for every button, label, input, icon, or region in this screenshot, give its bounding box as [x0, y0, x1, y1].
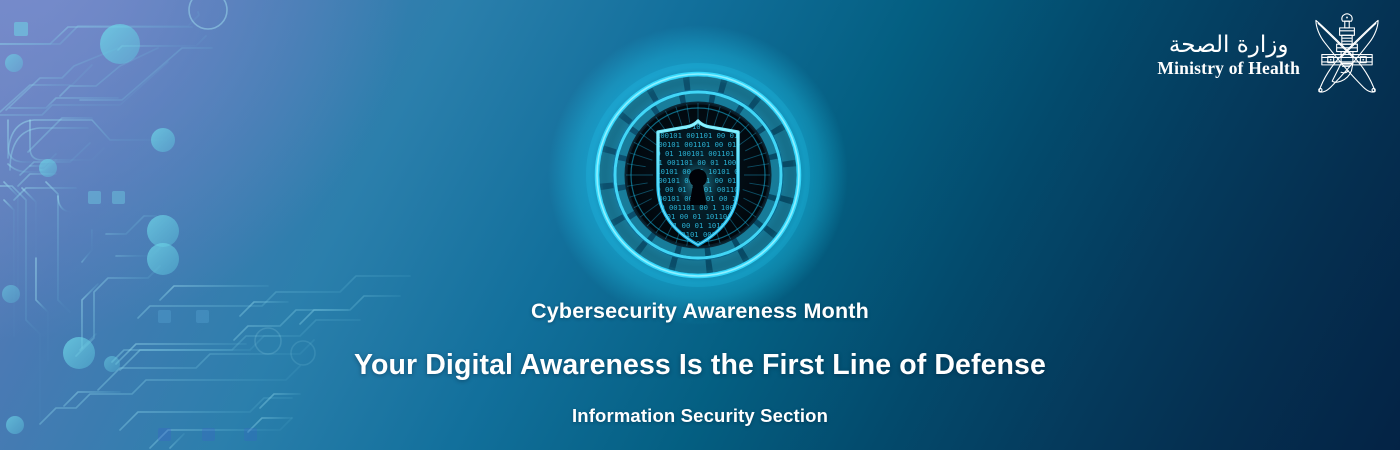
campaign-kicker-text: Cybersecurity Awareness Month — [0, 296, 1400, 326]
cybersecurity-awareness-banner: 00 01 10 100101 001101 00 01 100101 0011… — [0, 0, 1400, 450]
ministry-arabic-name: وزارة الصحة — [1169, 34, 1289, 57]
ministry-of-health-logo: وزارة الصحة Ministry of Health — [1157, 10, 1384, 102]
ministry-of-health-wordmark: وزارة الصحة Ministry of Health — [1157, 34, 1300, 78]
campaign-headline-text: Your Digital Awareness Is the First Line… — [0, 346, 1400, 384]
department-section-text: Information Security Section — [0, 403, 1400, 429]
ministry-english-name: Ministry of Health — [1157, 60, 1300, 78]
banner-text-block: Cybersecurity Awareness Month Your Digit… — [0, 296, 1400, 429]
cyber-shield-keyhole-ring-icon: 00 01 10 100101 001101 00 01 100101 0011… — [548, 25, 848, 325]
oman-national-emblem-icon — [1310, 10, 1384, 102]
